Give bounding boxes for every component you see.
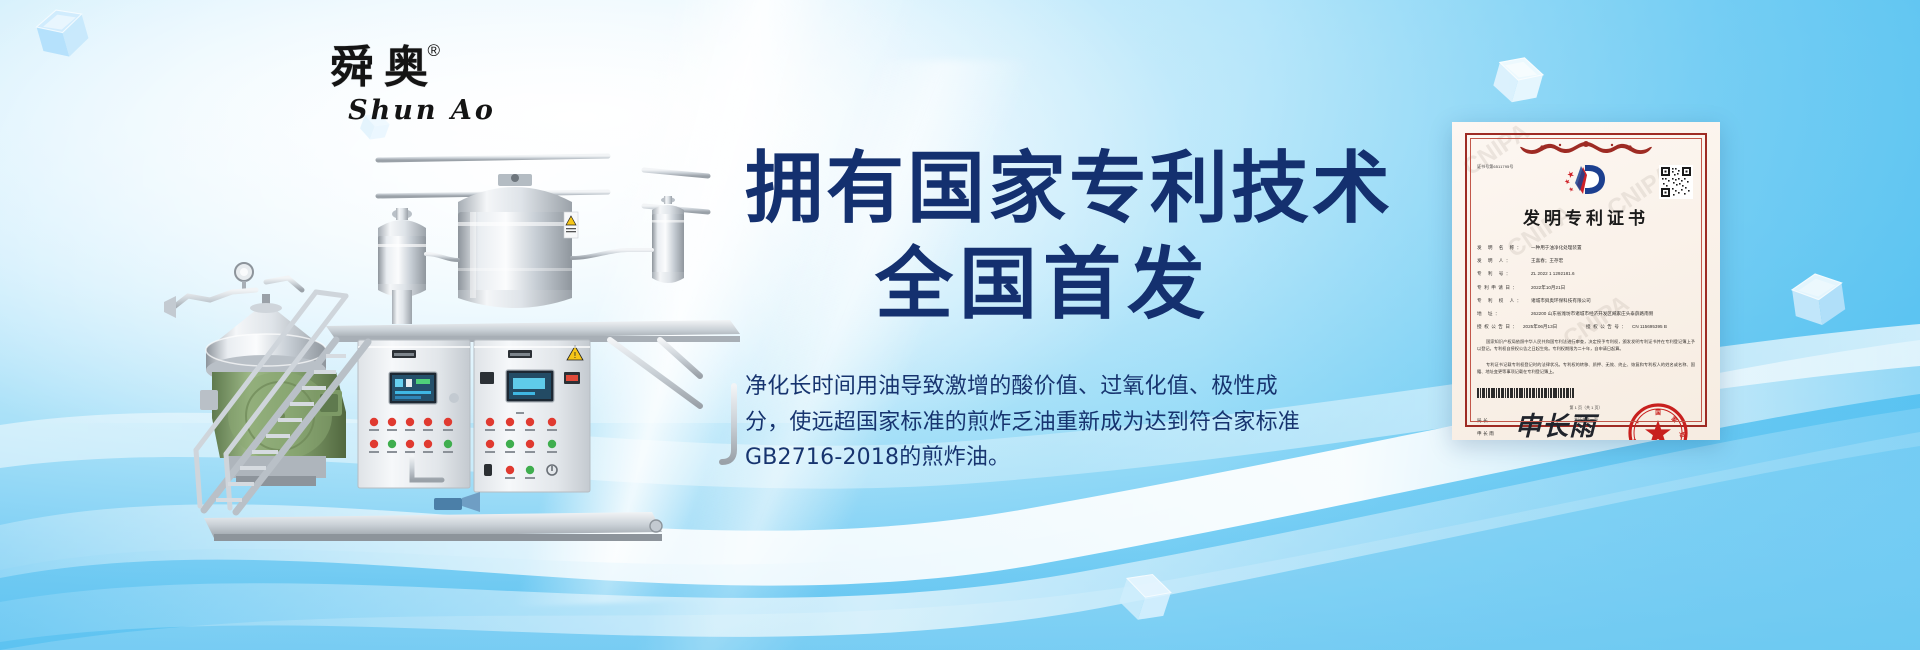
certificate-ornament [1477,140,1695,161]
field-value: ZL 2022 1 1292181.6 [1531,271,1695,277]
svg-text:!: ! [573,351,576,360]
field-value: 一种用于油净化处理装置 [1531,245,1695,251]
certificate-paragraph-1: 国家知识产权局依照中华人民共和国专利法进行审查，决定授予专利权，颁发发明专利证书… [1477,339,1695,353]
ice-cube-bottom-right [1108,560,1180,632]
field-value: 2022年10月21日 [1531,285,1695,291]
grant-number: 授权公告号： CN 115695395 B [1586,324,1695,330]
field-key: 专 利 权 人： [1477,298,1531,304]
logo-chinese-text: 舜奥 [330,42,438,93]
registered-trademark-icon: ® [427,41,440,61]
headline-block: 拥有国家专利技术 全国首发 净化长时间用油导致激增的酸价值、过氧化值、极性成分，… [745,150,1365,476]
director-sub-label: 申长雨 [1477,431,1495,437]
certificate-field-row: 专 利 号： ZL 2022 1 1292181.6 [1477,271,1695,277]
promo-banner: ! [0,0,1920,650]
certificate-field-row: 发 明 名 称： 一种用于油净化处理装置 [1477,245,1695,251]
grant-date-value: 2025年06月13日 [1523,324,1557,330]
field-value: 262200 山东省潍坊市诸城市经济开发区臧家庄头泰薛路南侧 [1531,311,1695,317]
headline-line-2: 全国首发 [745,246,1365,326]
field-value: 王喜春；王存宏 [1531,258,1695,264]
certificate-title: 发明专利证书 [1477,204,1695,229]
field-key: 专 利 号： [1477,271,1531,277]
grant-number-key: 授权公告号： [1586,324,1632,330]
field-key: 发 明 名 称： [1477,245,1531,251]
field-key: 发 明 人： [1477,258,1531,264]
body-paragraph: 净化长时间用油导致激增的酸价值、过氧化值、极性成分，使远超国家标准的煎炸乏油重新… [745,369,1315,476]
certificate-fields: 发 明 名 称： 一种用于油净化处理装置 发 明 人： 王喜春；王存宏 专 利 … [1477,245,1695,330]
ice-cube-right-top [1482,44,1552,114]
certificate-field-row: 专 利 权 人： 诸城市舜奥环保科技有限公司 [1477,298,1695,304]
cnipa-emblem-icon [1563,163,1609,202]
field-key: 专利申请日： [1477,285,1531,291]
headline-line-1: 拥有国家专利技术 [745,150,1365,230]
certificate-paragraph-2: 专利证书记载专利权登记时的法律状况。专利权的转移、质押、无效、终止、恢复和专利权… [1477,362,1695,376]
logo-pinyin-text: Shun Ao [330,95,520,126]
oil-purification-equipment: ! [140,150,780,550]
grant-date-key: 授权公告日： [1477,324,1523,330]
certificate-field-row: 发 明 人： 王喜春；王存宏 [1477,258,1695,264]
ice-cube-top-left [22,0,100,72]
certificate-grant-row: 授权公告日： 2025年06月13日 授权公告号： CN 115695395 B [1477,324,1695,330]
field-value: 诸城市舜奥环保科技有限公司 [1531,298,1695,304]
invention-patent-certificate: CNIPA CNIPA CNIPA CNIPA 证书号第6511795号 [1452,122,1720,440]
logo-chinese-row: 舜奥 ® [330,45,438,91]
certificate-barcode [1477,388,1695,398]
shun-ao-logo: 舜奥 ® Shun Ao [330,45,520,140]
field-key: 地 址： [1477,311,1531,317]
grant-number-value: CN 115695395 B [1632,324,1667,330]
certificate-qr-code [1659,165,1693,204]
certificate-inner-frame: 证书号第6511795号 [1465,133,1707,427]
certificate-field-row: 地 址： 262200 山东省潍坊市诸城市经济开发区臧家庄头泰薛路南侧 [1477,311,1695,317]
certificate-footer-date: 第 1 页（共 1 页） [1467,405,1705,411]
certificate-field-row: 专利申请日： 2022年10月21日 [1477,285,1695,291]
certificate-footer-note: 本证书共一页 [1467,417,1705,423]
grant-date: 授权公告日： 2025年06月13日 [1477,324,1586,330]
ice-cube-right-mid [1778,260,1856,338]
